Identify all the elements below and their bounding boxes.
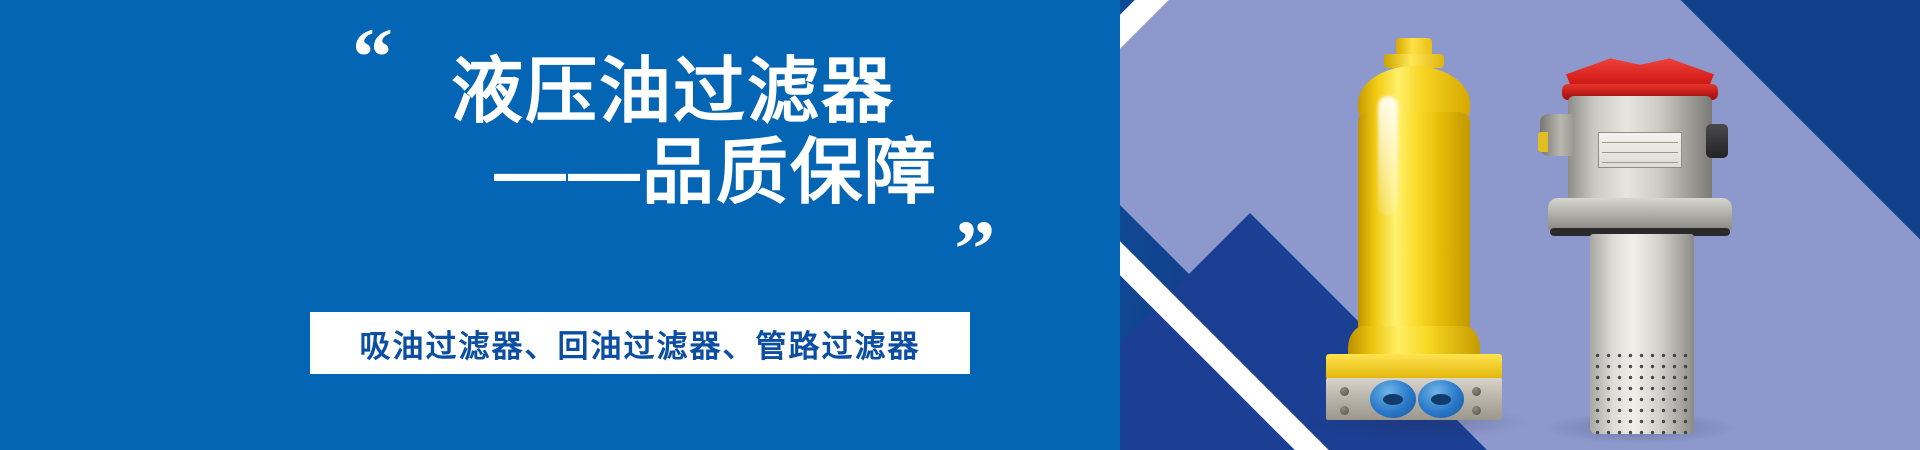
subtitle-box: 吸油过滤器、回油过滤器、管路过滤器 <box>310 312 970 374</box>
port-bore <box>1431 394 1451 405</box>
filter-highlight <box>1378 96 1398 216</box>
filter-nameplate <box>1598 132 1682 168</box>
mount-bolt-icon <box>1340 406 1349 415</box>
headline-line-2: ——品质保障 <box>300 133 1000 214</box>
filter-body <box>1358 112 1470 344</box>
filter-mount-flange <box>1548 198 1732 232</box>
port-bore <box>1383 394 1403 405</box>
page-title: 液压油过滤器 ——品质保障 <box>300 52 1000 213</box>
headline-line-1: 液压油过滤器 <box>300 52 1000 133</box>
filter-port <box>1370 380 1416 418</box>
subtitle-text: 吸油过滤器、回油过滤器、管路过滤器 <box>360 321 921 366</box>
headline-block: “ 液压油过滤器 ——品质保障 „ 吸油过滤器、回油过滤器、管路过滤器 <box>300 0 1000 450</box>
product-image-return-filter <box>1528 50 1748 440</box>
mount-bolt-icon <box>1472 406 1481 415</box>
promo-banner: “ 液压油过滤器 ——品质保障 „ 吸油过滤器、回油过滤器、管路过滤器 <box>0 0 1920 450</box>
nameplate-row <box>1602 135 1678 143</box>
nameplate-row <box>1602 145 1678 153</box>
mount-bolt-icon <box>1472 387 1481 396</box>
filter-indicator-knob <box>1706 124 1728 158</box>
nameplate-row <box>1602 155 1678 163</box>
filter-side-plug <box>1538 132 1548 152</box>
mount-bolt-icon <box>1340 387 1349 396</box>
quote-close-icon: „ <box>955 166 992 248</box>
product-image-yellow-pressure-filter <box>1318 38 1508 428</box>
filter-port <box>1418 380 1464 418</box>
filter-head-block <box>1326 354 1502 380</box>
filter-perforations <box>1592 350 1692 438</box>
